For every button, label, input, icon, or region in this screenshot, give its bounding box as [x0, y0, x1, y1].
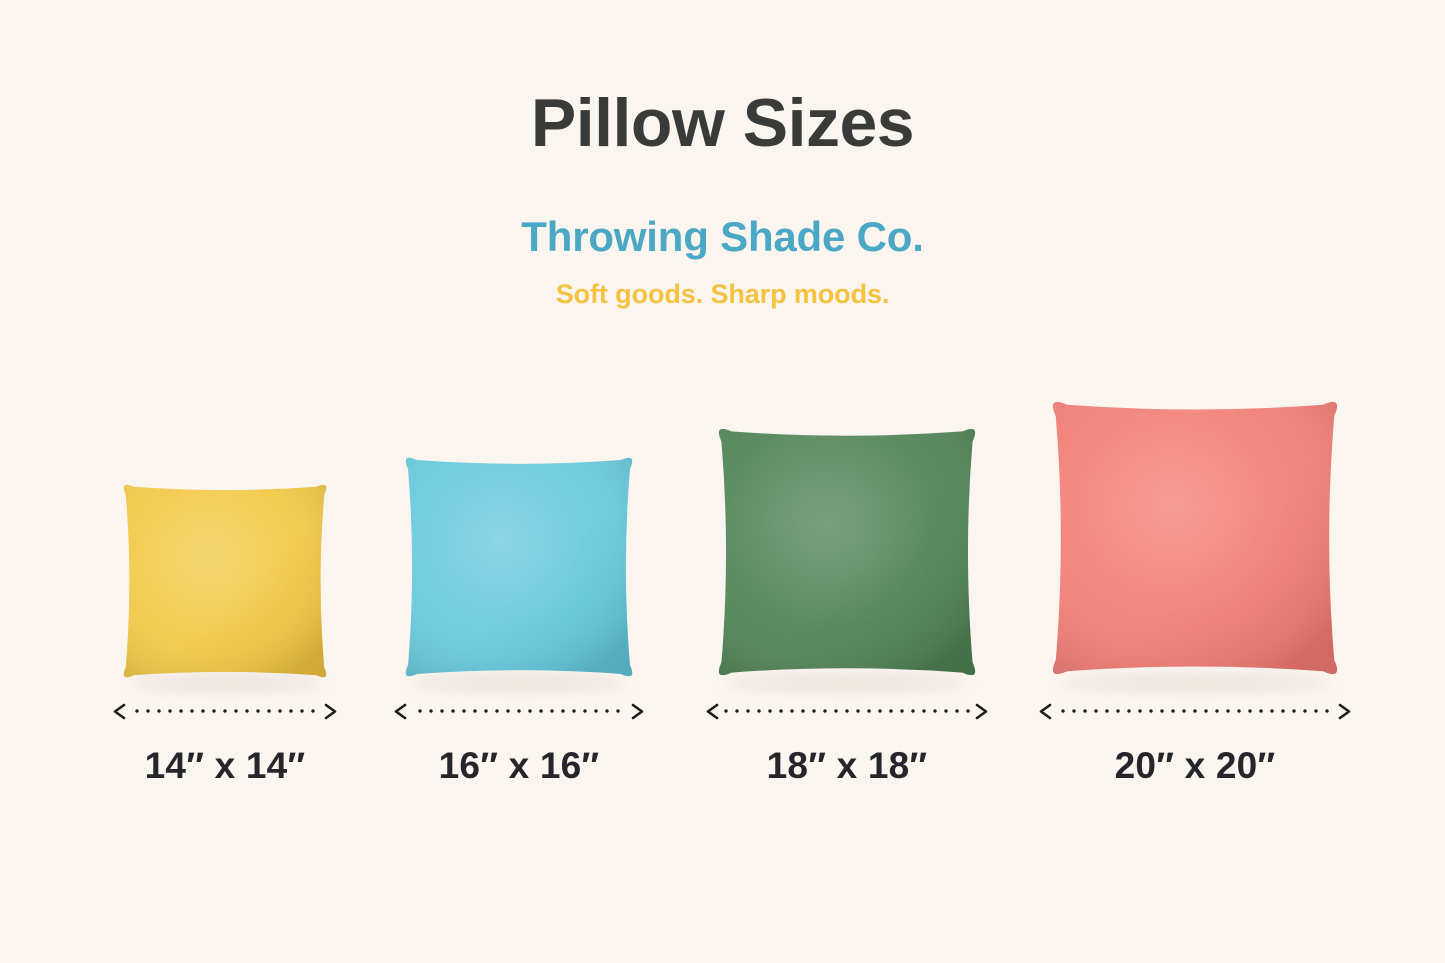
size-label-18in: 18″ x 18″ — [706, 745, 988, 787]
pillow-size-chart: Pillow Sizes Throwing Shade Co. Soft goo… — [0, 0, 1445, 963]
arrow-head-right-icon — [630, 702, 644, 721]
pillow-row: 14″ x 14″ — [0, 0, 1445, 963]
pillow-shape — [116, 477, 334, 685]
dotted-line — [1056, 709, 1334, 713]
arrow-head-left-icon — [706, 702, 720, 721]
pillow-shape — [397, 449, 641, 685]
dimension-arrow-16in — [394, 700, 644, 722]
arrow-head-right-icon — [1337, 702, 1351, 721]
arrow-head-left-icon — [113, 702, 127, 721]
dimension-arrow-18in — [706, 700, 988, 722]
pillow-16in[interactable] — [397, 449, 641, 685]
dimension-arrow-14in — [113, 700, 337, 722]
size-label-14in: 14″ x 14″ — [113, 745, 337, 787]
dotted-line — [723, 709, 971, 713]
arrow-head-right-icon — [323, 702, 337, 721]
dotted-line — [411, 709, 627, 713]
dotted-line — [130, 709, 320, 713]
arrow-head-right-icon — [974, 702, 988, 721]
pillow-shape — [1042, 391, 1348, 685]
size-label-20in: 20″ x 20″ — [1039, 745, 1351, 787]
pillow-shape — [709, 419, 985, 685]
pillow-18in[interactable] — [709, 419, 985, 685]
size-label-16in: 16″ x 16″ — [394, 745, 644, 787]
arrow-head-left-icon — [394, 702, 408, 721]
pillow-14in[interactable] — [116, 477, 334, 685]
arrow-head-left-icon — [1039, 702, 1053, 721]
dimension-arrow-20in — [1039, 700, 1351, 722]
pillow-20in[interactable] — [1042, 391, 1348, 685]
